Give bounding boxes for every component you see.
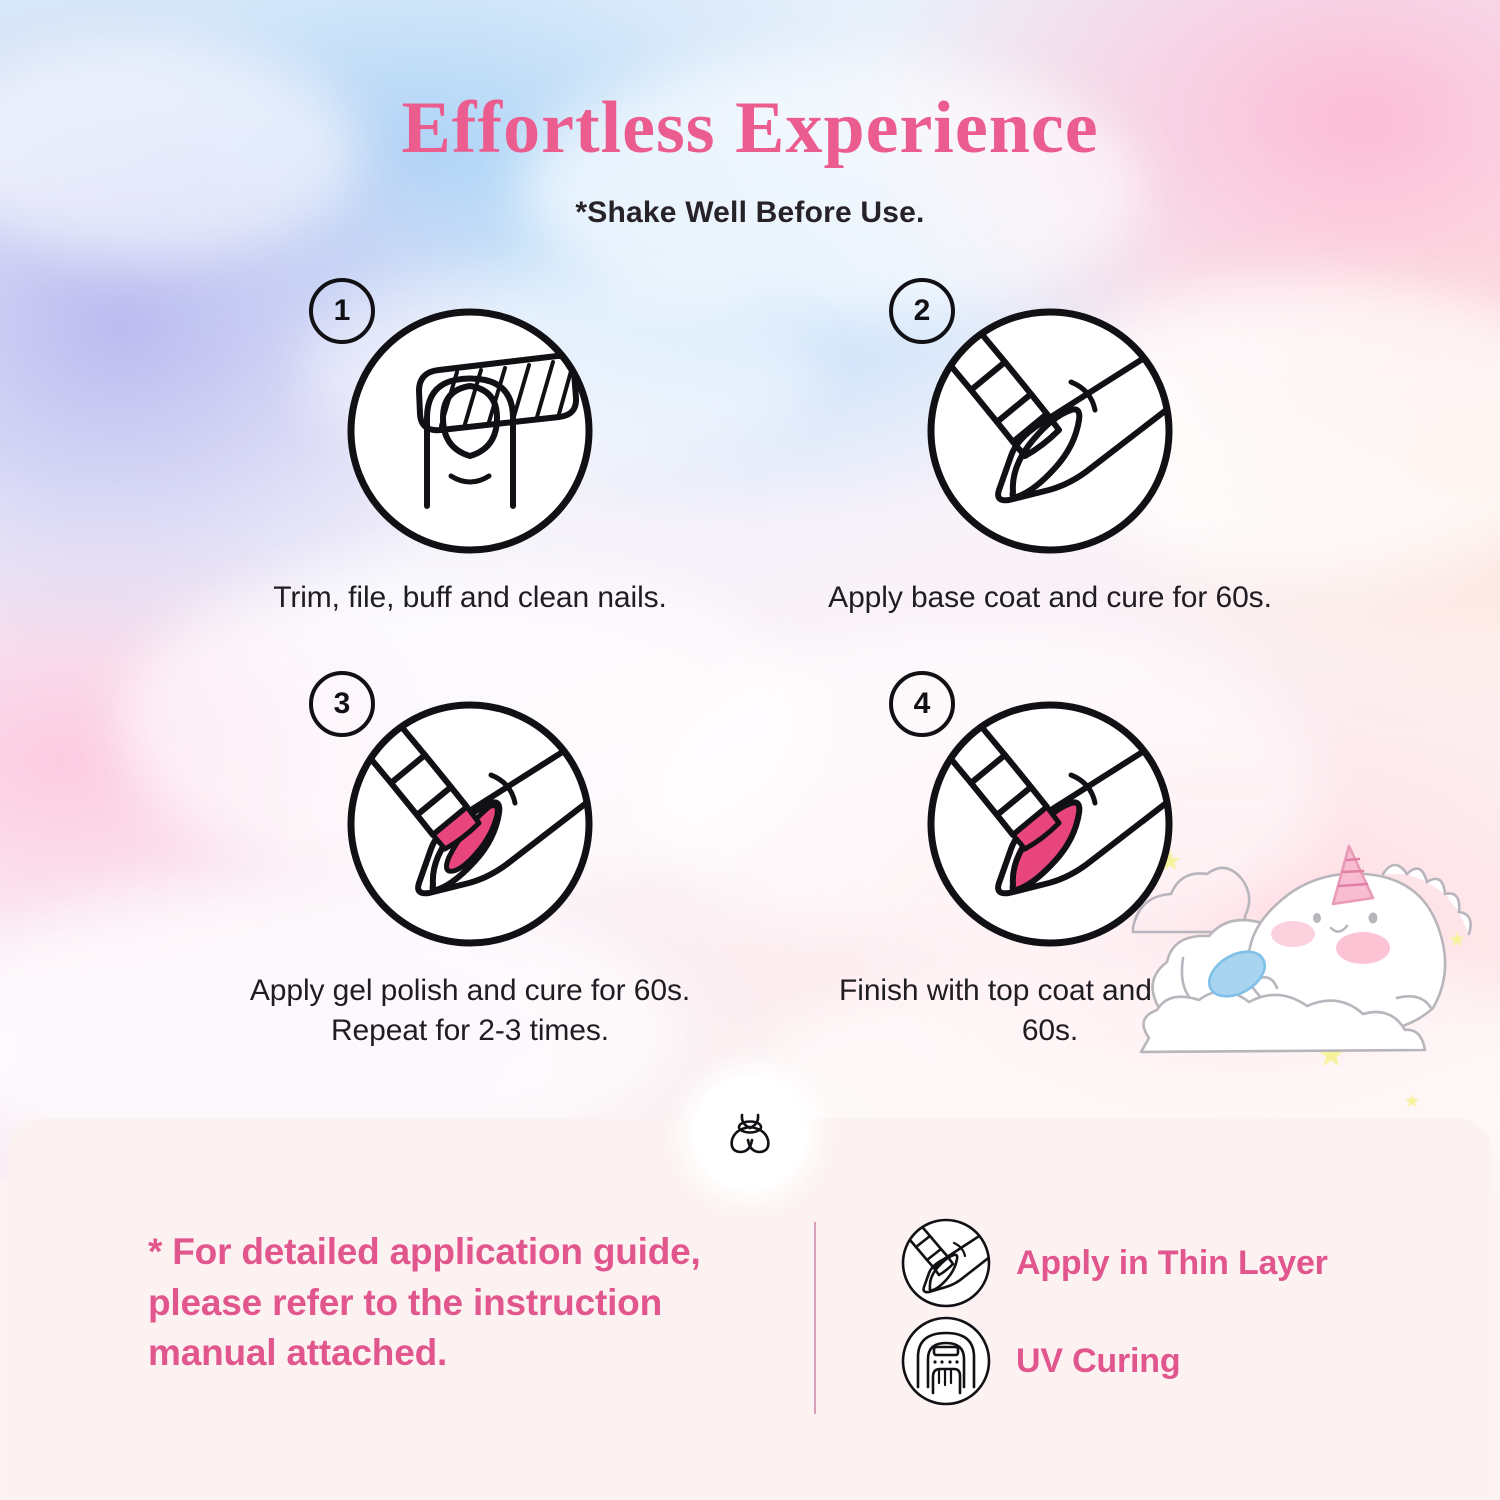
page-subtitle: *Shake Well Before Use. [0,196,1500,230]
nail-file-icon [345,306,595,556]
infographic-page: ★★★★★ Effortless Experience *Shake Well … [0,0,1500,1500]
step-1-illustration: 1 [345,306,595,556]
step-4: 4 [810,685,1290,1030]
manual-reference-note: * For detailed application guide, please… [148,1227,768,1379]
step-2: 2 [810,292,1290,637]
step-3-illustration: 3 [345,699,595,949]
feature-thin-layer-label: Apply in Thin Layer [1016,1244,1328,1283]
feature-thin-layer: Apply in Thin Layer [900,1214,1440,1312]
feature-uv-curing: UV Curing [900,1312,1440,1410]
step-3: 3 [230,685,710,1030]
page-title: Effortless Experience [0,86,1500,171]
step-4-illustration: 4 [925,699,1175,949]
step-1: 1 [230,292,710,637]
thin-layer-brush-icon [900,1217,992,1309]
steps-grid: 1 [230,292,1290,1030]
step-3-number-badge: 3 [309,671,375,737]
step-2-illustration: 2 [925,306,1175,556]
butterfly-logo-icon [721,1104,779,1162]
brand-logo-badge [693,1076,807,1190]
step-1-number-badge: 1 [309,278,375,344]
step-2-caption: Apply base coat and cure for 60s. [810,578,1290,618]
step-4-number-badge: 4 [889,671,955,737]
footer-divider [814,1222,816,1414]
step-2-number-badge: 2 [889,278,955,344]
step-3-caption: Apply gel polish and cure for 60s. Repea… [230,971,710,1051]
step-1-caption: Trim, file, buff and clean nails. [230,578,710,618]
top-coat-brush-icon [925,699,1175,949]
feature-list: Apply in Thin Layer [900,1214,1440,1410]
gel-polish-brush-icon [345,699,595,949]
uv-lamp-icon [900,1315,992,1407]
feature-uv-curing-label: UV Curing [1016,1342,1180,1381]
base-coat-brush-icon [925,306,1175,556]
step-4-caption: Finish with top coat and cure for 60s. [810,971,1290,1051]
